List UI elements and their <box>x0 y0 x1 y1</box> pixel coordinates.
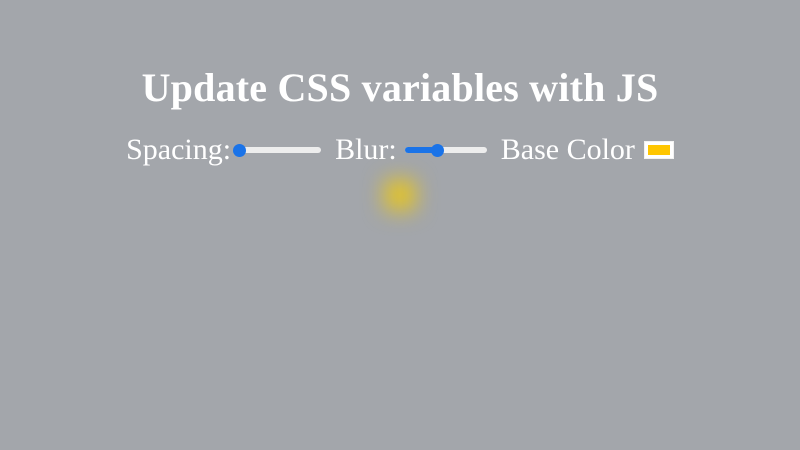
spacing-label: Spacing: <box>126 133 231 167</box>
page-root: Update CSS variables with JS Spacing: Bl… <box>0 0 800 450</box>
spacing-slider-thumb[interactable] <box>233 144 246 157</box>
base-color-swatch-fill <box>648 145 670 155</box>
blurred-hero-image <box>385 180 415 210</box>
blur-slider[interactable] <box>405 140 487 160</box>
controls-row: Spacing: Blur: Base Color <box>0 133 800 167</box>
spacing-slider[interactable] <box>239 140 321 160</box>
blur-label: Blur: <box>335 133 397 167</box>
spacing-slider-track <box>239 147 321 153</box>
base-color-label: Base Color <box>501 133 635 167</box>
blur-slider-thumb[interactable] <box>431 144 444 157</box>
base-color-swatch[interactable] <box>644 141 674 159</box>
preview-area <box>0 180 800 290</box>
page-title: Update CSS variables with JS <box>0 65 800 111</box>
